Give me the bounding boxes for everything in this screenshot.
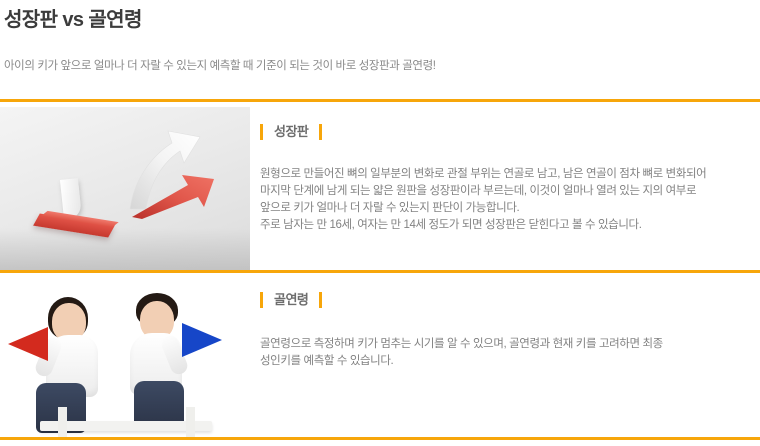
heading-bar-left-icon (260, 124, 263, 140)
growth-plate-heading-label: 성장판 (274, 124, 308, 140)
bench-leg (58, 407, 67, 437)
heading-bar-left-icon (260, 292, 263, 308)
text-line: 원형으로 만들어진 뼈의 일부분의 변화로 관절 부위는 연골로 남고, 남은 … (260, 166, 760, 183)
page-header: 성장판 vs 골연령 아이의 키가 앞으로 얼마나 더 자랄 수 있는지 예측할… (0, 0, 760, 74)
text-line: 앞으로 키가 얼마나 더 자랄 수 있는지 판단이 가능합니다. (260, 200, 760, 217)
backdrop-shadow (0, 228, 250, 270)
blue-megaphone-icon (182, 323, 222, 357)
page-title: 성장판 vs 골연령 (4, 8, 760, 32)
growth-plate-body: 성장판 원형으로 만들어진 뼈의 일부분의 변화로 관절 부위는 연골로 남고,… (250, 107, 760, 270)
heading-bar-right-icon (319, 292, 322, 308)
growth-plate-figure (0, 107, 250, 270)
bone-age-heading-label: 골연령 (274, 292, 308, 308)
child-boy (120, 293, 206, 415)
growth-plate-text: 원형으로 만들어진 뼈의 일부분의 변화로 관절 부위는 연골로 남고, 남은 … (260, 140, 760, 234)
text-line: 성인키를 예측할 수 있습니다. (260, 353, 750, 370)
text-line: 골연령으로 측정하며 키가 멈추는 시기를 알 수 있으며, 골연령과 현재 키… (260, 336, 750, 353)
divider-middle (0, 270, 760, 273)
red-megaphone-icon (8, 327, 48, 361)
text-line: 주로 남자는 만 16세, 여자는 만 14세 정도가 되면 성장판은 닫힌다고… (260, 217, 760, 234)
section-bone-age: 골연령 골연령으로 측정하며 키가 멈추는 시기를 알 수 있으며, 골연령과 … (0, 275, 760, 437)
page-subtitle: 아이의 키가 앞으로 얼마나 더 자랄 수 있는지 예측할 때 기준이 되는 것… (4, 32, 760, 74)
section-growth-plate: 성장판 원형으로 만들어진 뼈의 일부분의 변화로 관절 부위는 연골로 남고,… (0, 107, 760, 270)
children-with-megaphones-photo (0, 275, 250, 437)
bone-age-figure (0, 275, 250, 437)
heading-bar-right-icon (319, 124, 322, 140)
divider-bottom (0, 437, 760, 440)
bone-age-body: 골연령 골연령으로 측정하며 키가 멈추는 시기를 알 수 있으며, 골연령과 … (250, 275, 760, 437)
child-girl (34, 297, 110, 415)
bone-age-text: 골연령으로 측정하며 키가 멈추는 시기를 알 수 있으며, 골연령과 현재 키… (260, 308, 750, 370)
red-rising-arrow-icon (130, 173, 216, 219)
growth-plate-heading: 성장판 (260, 107, 760, 140)
bench-leg (186, 407, 195, 437)
divider-top (0, 99, 760, 102)
bone-age-heading: 골연령 (260, 275, 760, 308)
paper-arrows-illustration (0, 107, 250, 270)
text-line: 마지막 단계에 남게 되는 얇은 원판을 성장판이라 부르는데, 이것이 얼마나… (260, 183, 760, 200)
